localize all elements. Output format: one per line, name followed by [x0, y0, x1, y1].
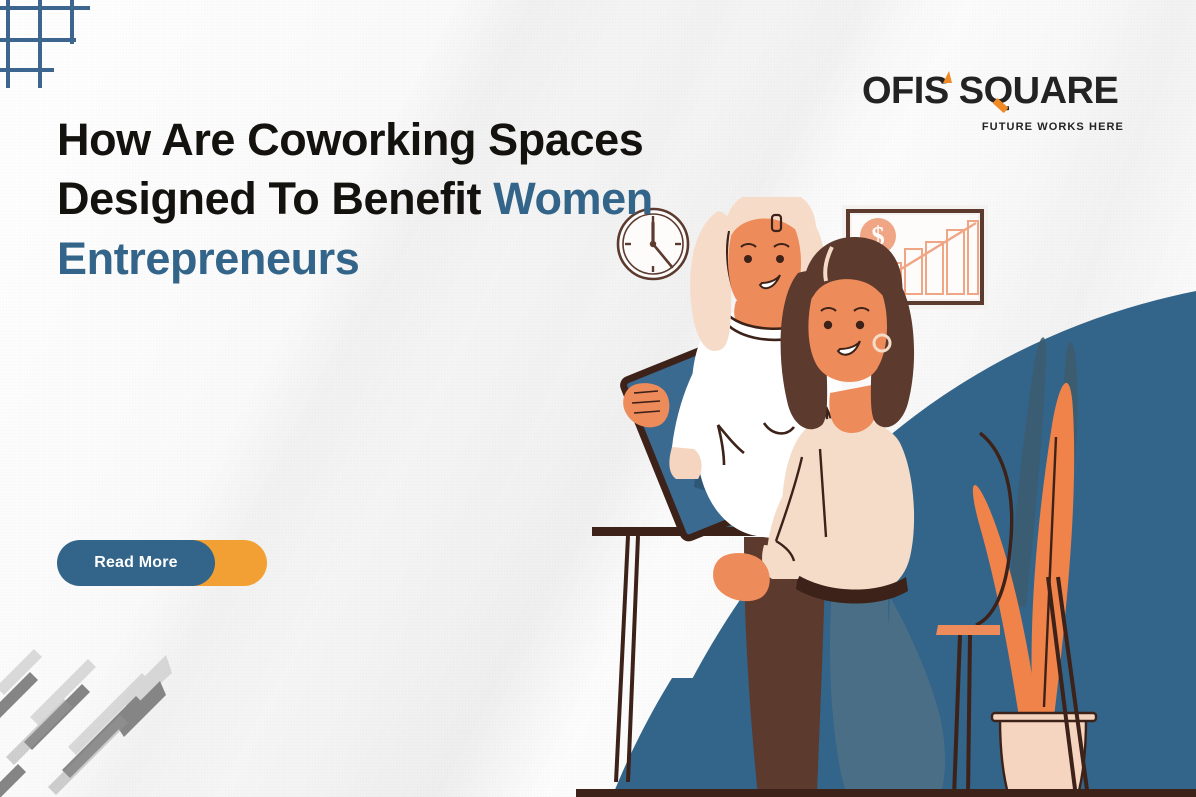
logo-tagline: FUTURE WORKS HERE — [982, 121, 1124, 133]
read-more-button-group[interactable]: Read More — [57, 540, 267, 586]
page-title: How Are Coworking Spaces Designed To Ben… — [57, 110, 757, 288]
floor-line — [576, 789, 1196, 797]
marketing-banner: $ — [0, 0, 1196, 797]
logo-word-square: SQUARE — [959, 70, 1119, 112]
headline-line-1: How Are Coworking Spaces — [57, 114, 643, 165]
headline-line-2-accent: Women — [493, 173, 653, 224]
corner-grid-pattern — [0, 0, 114, 112]
read-more-button[interactable]: Read More — [57, 540, 215, 586]
logo-i-dot-icon — [943, 71, 952, 83]
logo-wordmark: OFIS SQUARE — [862, 72, 1124, 110]
left-hand — [623, 383, 669, 427]
diagonal-stripes-pattern — [0, 607, 220, 797]
headline-line-2-plain: Designed To Benefit — [57, 173, 493, 224]
logo-word-ofis: OFIS — [862, 70, 949, 112]
headline-line-3-accent: Entrepreneurs — [57, 233, 359, 284]
brand-logo[interactable]: OFIS SQUARE FUTURE WORKS HERE — [862, 72, 1124, 130]
